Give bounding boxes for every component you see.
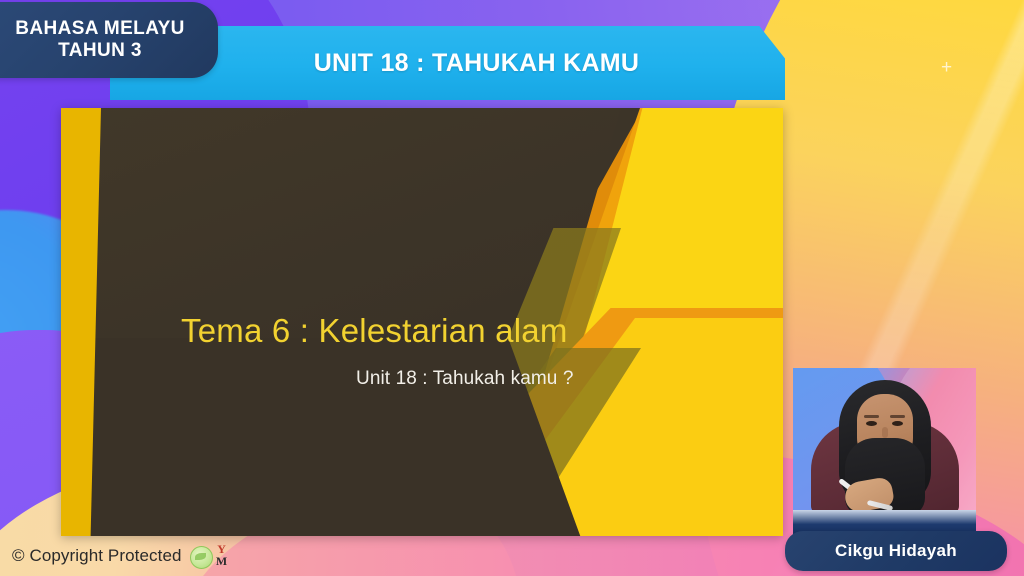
presenter-eye-right [892, 421, 903, 426]
subject-badge: BAHASA MELAYU TAHUN 3 [0, 2, 218, 78]
leaf-circle-icon: Y M [190, 542, 232, 570]
presentation-stage: + Tema 6 : Kelestarian alam Unit 18 : Ta… [0, 0, 1024, 576]
unit-title-text: UNIT 18 : TAHUKAH KAMU [256, 49, 640, 78]
presenter-eyebrow-left [864, 415, 879, 418]
slide-heading: Tema 6 : Kelestarian alam [181, 312, 681, 350]
subject-badge-line2: TAHUN 3 [58, 40, 142, 62]
presenter-eye-left [866, 421, 877, 426]
copyright-footer: © Copyright Protected Y M [12, 542, 232, 570]
slide-canvas: Tema 6 : Kelestarian alam Unit 18 : Tahu… [61, 108, 783, 536]
sparkle-icon: + [941, 58, 952, 77]
subject-badge-line1: BAHASA MELAYU [15, 18, 185, 40]
presenter-video[interactable] [793, 368, 976, 536]
logo-initials: Y M [212, 543, 232, 569]
presenter-name-banner: Cikgu Hidayah [785, 531, 1007, 571]
copyright-text: © Copyright Protected [12, 546, 182, 566]
slide-text-block: Tema 6 : Kelestarian alam Unit 18 : Tahu… [61, 108, 783, 536]
presenter-eyebrow-right [890, 415, 905, 418]
slide-subheading: Unit 18 : Tahukah kamu ? [356, 368, 776, 390]
presenter-name-text: Cikgu Hidayah [835, 541, 957, 561]
logo-initial-m: M [212, 555, 232, 567]
presenter-nose [882, 427, 888, 438]
